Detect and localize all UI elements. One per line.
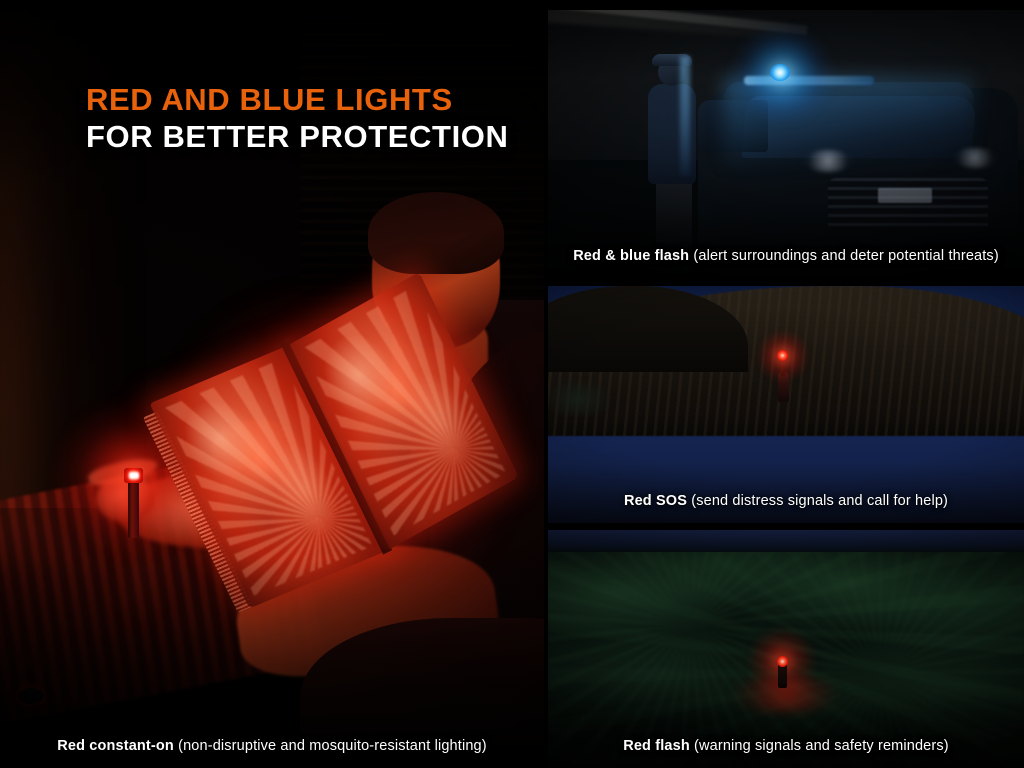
caption-lead: Red flash (623, 738, 690, 754)
panel-red-sos: Red SOS (send distress signals and call … (548, 286, 1024, 523)
caption-lead: Red SOS (624, 493, 687, 509)
caption-sub: (send distress signals and call for help… (691, 493, 948, 509)
caption-red-blue-flash: Red & blue flash (alert surroundings and… (548, 248, 1024, 278)
caption-sub: (warning signals and safety reminders) (694, 738, 949, 754)
marketing-image: Red constant-on (non-disruptive and mosq… (0, 0, 1024, 768)
caption-red-sos: Red SOS (send distress signals and call … (548, 493, 1024, 523)
caption-red-constant-on: Red constant-on (non-disruptive and mosq… (0, 738, 544, 768)
headline: RED AND BLUE LIGHTS FOR BETTER PROTECTIO… (86, 82, 509, 155)
panel-vignette (548, 530, 1024, 768)
caption-sub: (non-disruptive and mosquito-resistant l… (178, 738, 487, 754)
caption-red-flash: Red flash (warning signals and safety re… (548, 738, 1024, 768)
headline-line-1: RED AND BLUE LIGHTS (86, 82, 509, 119)
panel-red-flash: Red flash (warning signals and safety re… (548, 530, 1024, 768)
panel-red-blue-flash: Red & blue flash (alert surroundings and… (548, 10, 1024, 278)
caption-lead: Red constant-on (57, 738, 174, 754)
panel-vignette (548, 286, 1024, 523)
caption-lead: Red & blue flash (573, 248, 689, 264)
panel-vignette (548, 10, 1024, 278)
headline-line-2: FOR BETTER PROTECTION (86, 119, 509, 156)
caption-sub: (alert surroundings and deter potential … (693, 248, 998, 264)
